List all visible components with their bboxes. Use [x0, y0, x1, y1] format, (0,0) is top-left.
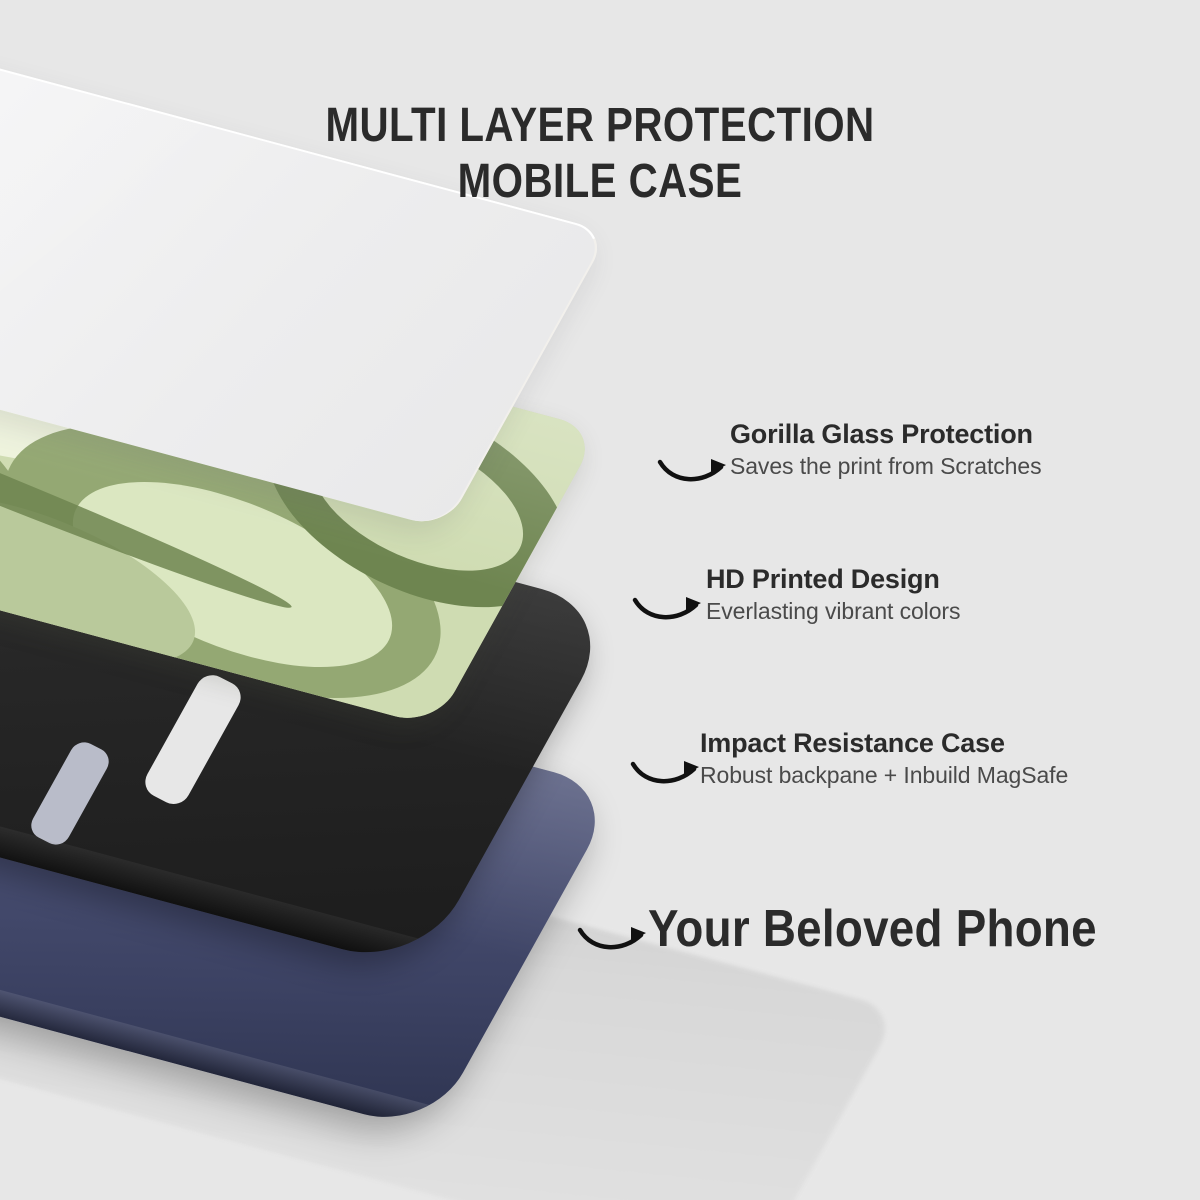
callout-subtitle-hd-printed-design: Everlasting vibrant colors — [706, 596, 960, 626]
callout-title-hd-printed-design: HD Printed Design — [706, 563, 960, 596]
callout-arrow-your-beloved-phone — [575, 908, 655, 956]
callout-subtitle-impact-resistance-case: Robust backpane + Inbuild MagSafe — [700, 760, 1068, 790]
callout-title-impact-resistance-case: Impact Resistance Case — [700, 727, 1068, 760]
callout-title-your-beloved-phone: Your Beloved Phone — [648, 900, 1097, 958]
callout-arrow-gorilla-glass — [655, 440, 735, 488]
callout-arrow-hd-printed-design — [630, 578, 710, 626]
callout-title-gorilla-glass: Gorilla Glass Protection — [730, 418, 1041, 451]
callout-gorilla-glass: Gorilla Glass Protection Saves the print… — [730, 418, 1041, 481]
infographic-canvas: MULTI LAYER PROTECTION MOBILE CASE Goril… — [0, 0, 1200, 1200]
exploded-layer-stack — [0, 0, 1200, 1200]
case-button-cutout-1 — [139, 670, 246, 810]
callout-impact-resistance-case: Impact Resistance Case Robust backpane +… — [700, 727, 1068, 790]
callout-your-beloved-phone: Your Beloved Phone — [648, 900, 1158, 958]
case-button-cutout-2 — [26, 737, 114, 849]
callout-hd-printed-design: HD Printed Design Everlasting vibrant co… — [706, 563, 960, 626]
callout-subtitle-gorilla-glass: Saves the print from Scratches — [730, 451, 1041, 481]
callout-arrow-impact-resistance-case — [628, 742, 708, 790]
